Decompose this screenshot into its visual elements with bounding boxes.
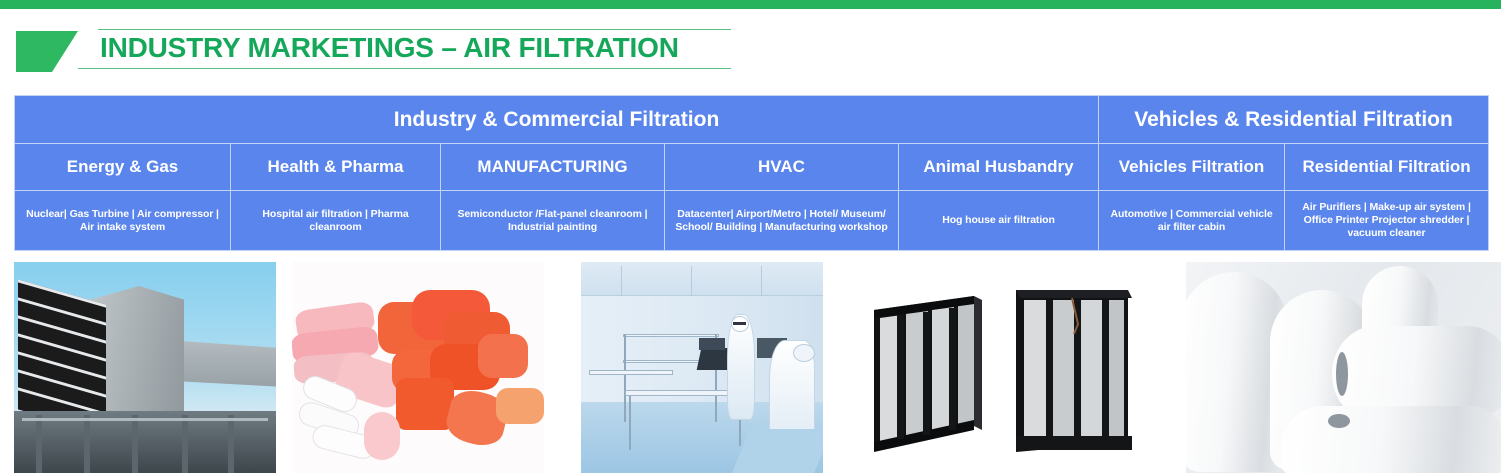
rack-post — [624, 334, 626, 422]
detail-animal-husbandry: Hog house air filtration — [899, 191, 1099, 251]
group-header-industry-commercial: Industry & Commercial Filtration — [15, 96, 1099, 144]
photo-strip — [0, 262, 1501, 475]
table-detail-row: Nuclear| Gas Turbine | Air compressor | … — [15, 191, 1489, 251]
catwalk-rail — [22, 418, 268, 421]
title-rule-top — [98, 29, 731, 30]
semiconductor-cleanroom-photo — [581, 262, 823, 473]
slide-root: INDUSTRY MARKETINGS – AIR FILTRATION Ind… — [0, 0, 1501, 475]
detail-energy-gas: Nuclear| Gas Turbine | Air compressor | … — [15, 191, 231, 251]
filter-media-rolls-photo — [1186, 262, 1501, 473]
ceiling-rail — [621, 266, 622, 296]
roll-core — [1336, 352, 1348, 396]
orange-tablet — [478, 334, 528, 378]
ceiling-rail — [691, 266, 692, 296]
column-header-residential-filtration: Residential Filtration — [1285, 144, 1489, 191]
group-header-vehicles-residential: Vehicles & Residential Filtration — [1099, 96, 1489, 144]
work-bench — [589, 370, 673, 375]
detail-hvac: Datacenter| Airport/Metro | Hotel/ Museu… — [665, 191, 899, 251]
detail-health-pharma: Hospital air filtration | Pharma cleanro… — [231, 191, 441, 251]
shelf-rack — [623, 334, 719, 337]
title-rule-bottom — [78, 68, 731, 69]
support-leg — [36, 415, 42, 473]
peach-tablet — [496, 388, 544, 424]
column-header-energy-gas: Energy & Gas — [15, 144, 231, 191]
support-leg — [182, 415, 188, 473]
filter-illustration — [866, 278, 1156, 475]
support-leg — [132, 415, 138, 473]
column-header-animal-husbandry: Animal Husbandry — [899, 144, 1099, 191]
support-leg — [84, 415, 90, 473]
detail-residential-filtration: Air Purifiers | Make-up air system | Off… — [1285, 191, 1489, 251]
support-leg — [228, 415, 234, 473]
top-green-bar — [0, 0, 1501, 9]
column-header-hvac: HVAC — [665, 144, 899, 191]
column-header-health-pharma: Health & Pharma — [231, 144, 441, 191]
air-intake-plant-photo — [14, 262, 276, 473]
column-header-manufacturing: MANUFACTURING — [441, 144, 665, 191]
detail-vehicles-filtration: Automotive | Commercial vehicle air filt… — [1099, 191, 1285, 251]
worker-hood — [793, 344, 815, 362]
media-roll — [1282, 406, 1501, 473]
column-header-vehicles-filtration: Vehicles Filtration — [1099, 144, 1285, 191]
industry-matrix-table: Industry & Commercial Filtration Vehicle… — [14, 95, 1489, 251]
page-title-block: INDUSTRY MARKETINGS – AIR FILTRATION — [0, 24, 760, 72]
table-header-row: Energy & Gas Health & Pharma MANUFACTURI… — [15, 144, 1489, 191]
table-group-row: Industry & Commercial Filtration Vehicle… — [15, 96, 1489, 144]
bench-leg — [629, 396, 631, 450]
right-v-bank-filter — [1016, 290, 1132, 452]
page-title: INDUSTRY MARKETINGS – AIR FILTRATION — [100, 31, 679, 65]
worker-goggles — [733, 322, 746, 325]
green-flag-icon — [16, 31, 78, 72]
v-bank-compact-filters-photo — [866, 278, 1156, 475]
ceiling-rail — [761, 266, 762, 296]
ceiling-grid — [581, 262, 823, 296]
monitor — [699, 338, 725, 350]
pharma-pills-photo — [292, 262, 544, 473]
orange-tablet — [396, 378, 454, 430]
detail-manufacturing: Semiconductor /Flat-panel cleanroom | In… — [441, 191, 665, 251]
pink-tablet — [364, 412, 400, 460]
roll-core — [1328, 414, 1350, 428]
left-v-bank-filter — [874, 296, 982, 452]
